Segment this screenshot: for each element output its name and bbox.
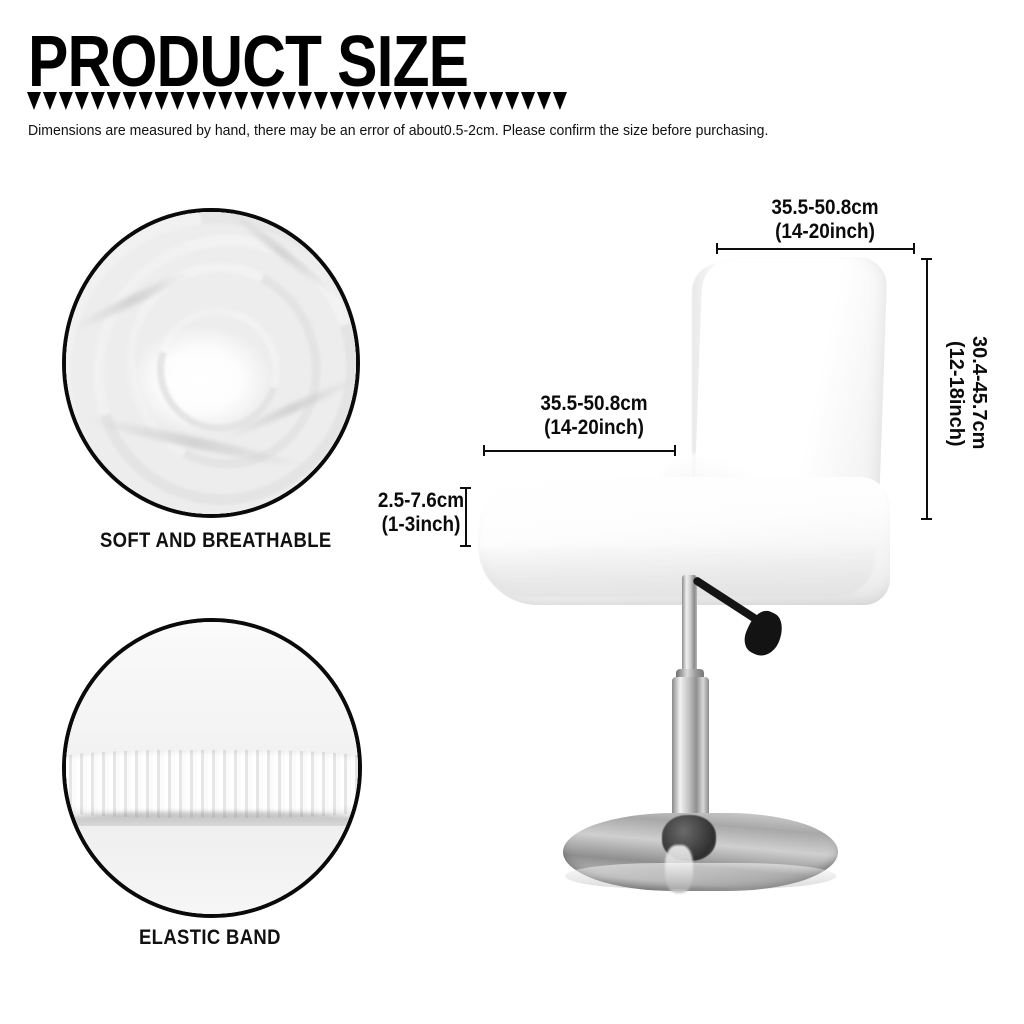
fabric-swatch-circle xyxy=(62,208,360,518)
triangle-marker xyxy=(59,92,73,110)
triangle-marker xyxy=(473,92,487,110)
triangle-marker xyxy=(250,92,264,110)
triangle-marker xyxy=(505,92,519,110)
triangle-marker xyxy=(91,92,105,110)
bracket-line xyxy=(483,450,676,452)
triangle-marker xyxy=(362,92,376,110)
product-size-infographic: PRODUCT SIZE Dimensions are measured by … xyxy=(0,0,1024,1024)
triangle-marker xyxy=(155,92,169,110)
dimension-bracket-backrest-width xyxy=(716,243,915,254)
triangle-divider xyxy=(27,92,567,114)
bracket-end-cap xyxy=(913,243,915,254)
bracket-line xyxy=(716,248,915,250)
triangle-marker xyxy=(346,92,360,110)
triangle-marker xyxy=(266,92,280,110)
triangle-marker xyxy=(43,92,57,110)
dimension-label-seat-depth: 35.5-50.8cm (14-20inch) xyxy=(484,392,704,439)
triangle-marker xyxy=(378,92,392,110)
triangle-marker xyxy=(553,92,567,110)
dimension-value-backrest-height-inch: (12-18inch) xyxy=(945,341,967,447)
triangle-marker xyxy=(27,92,41,110)
triangle-marker xyxy=(394,92,408,110)
dimension-bracket-backrest-height xyxy=(921,258,932,520)
triangle-marker xyxy=(314,92,328,110)
page-title: PRODUCT SIZE xyxy=(28,26,468,98)
triangle-marker xyxy=(441,92,455,110)
triangle-marker xyxy=(234,92,248,110)
triangle-marker xyxy=(425,92,439,110)
dimension-value-inch: (14-20inch) xyxy=(495,416,693,440)
triangle-marker xyxy=(107,92,121,110)
chair-illustration xyxy=(470,245,910,935)
triangle-marker xyxy=(139,92,153,110)
gas-lift-piston xyxy=(682,575,697,680)
dimension-value-inch: (14-20inch) xyxy=(726,220,924,244)
bracket-line xyxy=(926,258,928,520)
dimension-value-cm: 35.5-50.8cm xyxy=(495,392,693,416)
gas-lift-cylinder xyxy=(672,677,709,827)
fabric-swirl-image xyxy=(62,208,360,518)
triangle-marker xyxy=(170,92,184,110)
bracket-line xyxy=(465,487,467,547)
triangle-marker xyxy=(489,92,503,110)
elastic-band-circle xyxy=(62,618,362,918)
elastic-band-image xyxy=(66,622,358,914)
triangle-marker xyxy=(75,92,89,110)
triangle-marker xyxy=(457,92,471,110)
triangle-marker xyxy=(521,92,535,110)
triangle-marker xyxy=(410,92,424,110)
fabric-upper-drape xyxy=(62,628,362,756)
bracket-end-cap xyxy=(921,518,932,520)
feature-caption-soft-breathable: SOFT AND BREATHABLE xyxy=(100,529,332,553)
dimension-value-backrest-height-cm: 30.4-45.7cm xyxy=(968,336,990,449)
feature-caption-elastic-band: ELASTIC BAND xyxy=(139,926,281,950)
triangle-marker xyxy=(282,92,296,110)
triangle-marker xyxy=(218,92,232,110)
dimension-label-backrest-width: 35.5-50.8cm (14-20inch) xyxy=(715,196,935,243)
triangle-marker xyxy=(186,92,200,110)
bracket-end-cap xyxy=(674,445,676,456)
triangle-marker xyxy=(330,92,344,110)
fabric-lower-surface xyxy=(62,826,362,918)
dimension-bracket-seat-thickness xyxy=(460,487,471,547)
triangle-marker xyxy=(123,92,137,110)
triangle-marker xyxy=(537,92,551,110)
dimension-value-cm: 2.5-7.6cm xyxy=(372,489,471,513)
chair-seat-front-edge xyxy=(480,545,875,597)
dimension-bracket-seat-depth xyxy=(483,445,676,456)
elastic-gathers xyxy=(62,750,362,817)
dimension-value-inch: (1-3inch) xyxy=(372,513,471,537)
triangle-marker xyxy=(298,92,312,110)
bracket-end-cap xyxy=(460,545,471,547)
base-rim xyxy=(565,863,836,889)
measurement-disclaimer: Dimensions are measured by hand, there m… xyxy=(28,123,768,139)
triangle-marker xyxy=(202,92,216,110)
dimension-value-cm: 35.5-50.8cm xyxy=(726,196,924,220)
